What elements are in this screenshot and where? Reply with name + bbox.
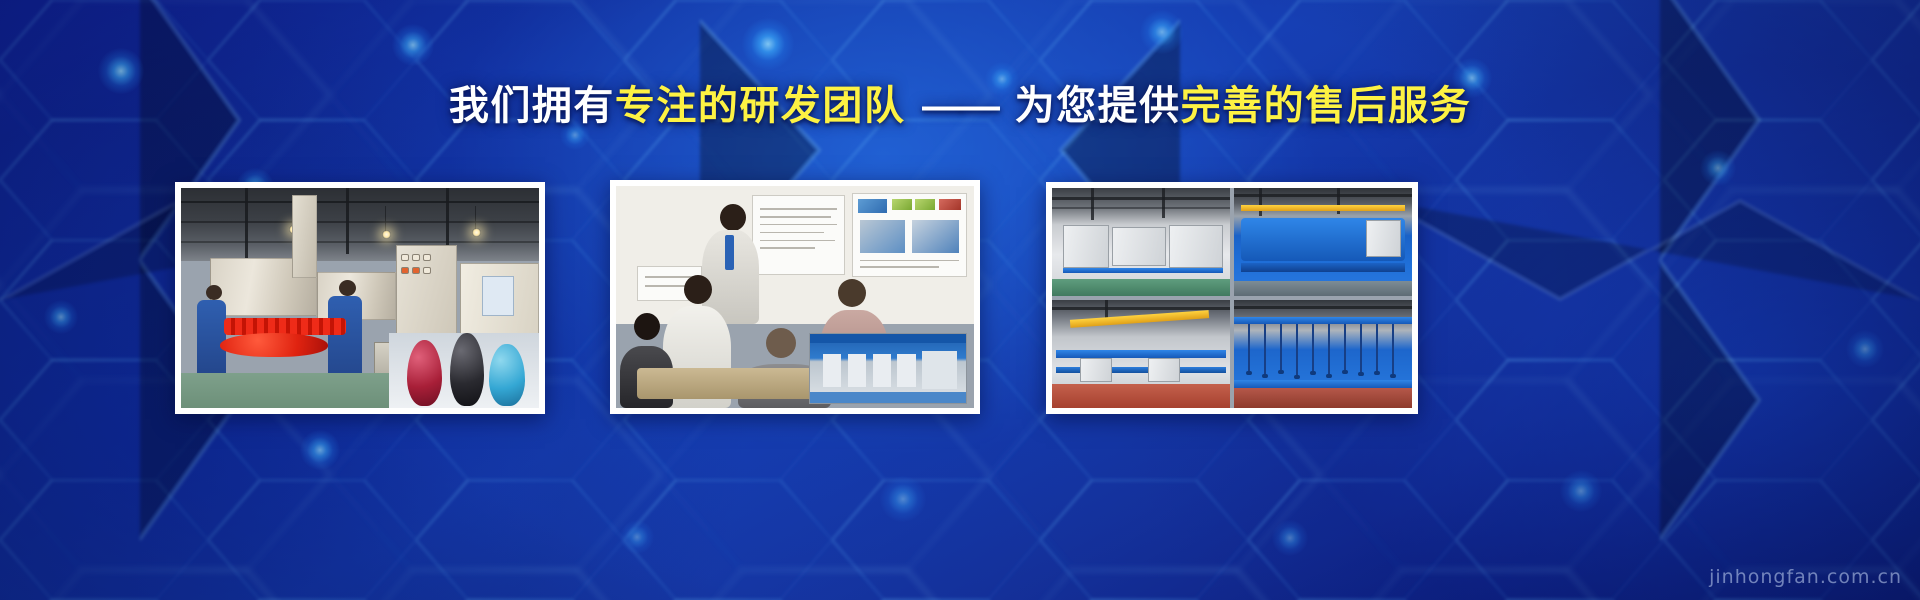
collage-cell-conveyor [1052,300,1230,408]
collage-cell-blue-tunnel [1234,188,1412,296]
glow-node [1140,10,1184,54]
worker-left [197,300,226,379]
duct-column [292,195,317,279]
glow-node [300,430,340,470]
glow-node [620,520,654,554]
vase-red [407,340,443,406]
wall-poster [852,193,967,277]
glow-node [1560,470,1602,512]
lanyard [725,235,734,271]
label-placard [482,276,514,316]
photo-production-line [181,188,539,408]
headline-segment-2: 专注的研发团队 [615,84,906,128]
glow-node [742,18,794,70]
yellow-crane-beam [1070,310,1209,327]
ceiling-lamp [472,228,481,237]
conveyor-rail [1056,350,1227,359]
photo-frame-production-line[interactable] [175,182,545,414]
person-head [684,275,712,304]
person-head [634,313,660,340]
person-head [720,204,746,231]
headline-segment-3: 为您提供 [1015,84,1181,128]
headline-segment-1: 我们拥有 [449,84,615,128]
headline-dash: —— [918,84,1002,128]
oven-cabinet [1112,227,1165,266]
glow-node [1846,330,1884,368]
vase-black [450,333,484,406]
glow-node [392,24,434,66]
oven-cabinet [1063,225,1109,268]
lower-frame-rail [1234,380,1412,388]
oven-cabinet [1169,225,1222,268]
worker-head [339,280,356,296]
page-title: 我们拥有专注的研发团队 —— 为您提供完善的售后服务 [0,84,1920,129]
worker-head [206,285,222,300]
factory-roof [181,188,539,261]
photo-frame-team-meeting[interactable] [610,180,980,414]
person-head [838,279,866,307]
headline-segment-4: 完善的售后服务 [1181,84,1472,128]
hanger-overhead-rail [1234,317,1412,323]
glow-node [1700,150,1736,186]
ceiling-lamp [382,230,391,239]
wall-poster [752,195,845,275]
photo-team-meeting [616,186,974,408]
photo-equipment-collage [1052,188,1412,408]
glow-node [880,476,926,522]
promo-banner: 我们拥有专注的研发团队 —— 为您提供完善的售后服务 [0,0,1920,600]
equipment-photo-inset [809,333,967,404]
vase-blue [489,344,525,406]
conveyor-cart [1148,358,1180,382]
photo-frame-equipment-collage[interactable] [1046,182,1418,414]
person-head [766,328,796,358]
collage-cell-oven-line [1052,188,1230,296]
red-parts-pile [220,333,327,357]
glow-node [1272,520,1308,556]
yellow-pipe [1241,205,1405,210]
conveyor-cart [1080,358,1112,382]
site-watermark: jinhongfan.com.cn [1709,566,1902,588]
control-unit [1366,220,1402,257]
collage-cell-hanger-line [1234,300,1412,408]
glow-node [44,300,78,334]
